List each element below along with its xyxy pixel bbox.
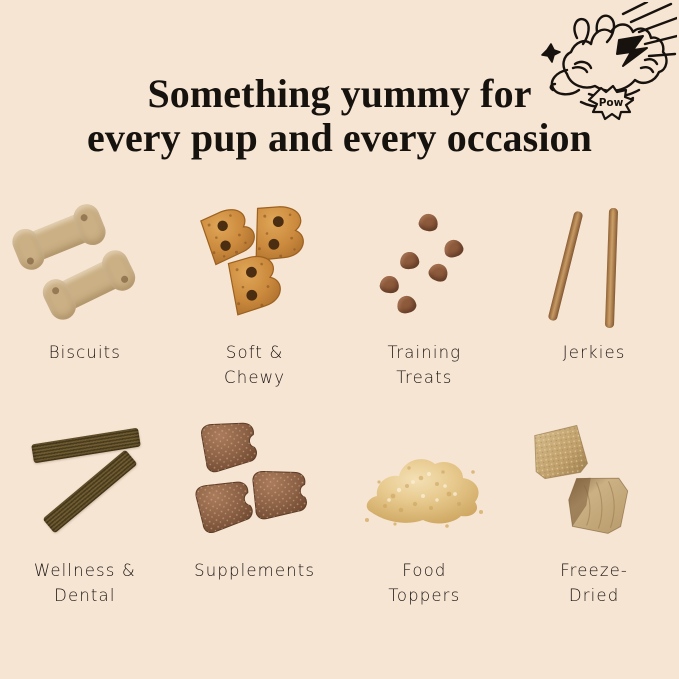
- page-title: Something yummy for every pup and every …: [0, 72, 679, 160]
- dental-chew-sticks-illustration: [10, 416, 160, 556]
- category-cell-training-treats[interactable]: Training Treats: [340, 196, 510, 416]
- headline-line-2: every pup and every occasion: [0, 116, 679, 160]
- category-label-wellness-dental: Wellness & Dental: [34, 558, 136, 608]
- category-label-soft-chewy: Soft & Chewy: [224, 340, 285, 390]
- food-topper-powder-illustration: [349, 416, 499, 556]
- category-cell-wellness-dental[interactable]: Wellness & Dental: [0, 416, 170, 636]
- soft-chewy-letter-b-treats-illustration: [180, 196, 330, 336]
- category-cell-jerkies[interactable]: Jerkies: [509, 196, 679, 416]
- category-row-2: Wellness & Dental: [0, 416, 679, 636]
- promo-banner: Something yummy for every pup and every …: [0, 0, 679, 679]
- category-label-training-treats: Training Treats: [388, 340, 462, 390]
- bone-biscuits-illustration: [10, 196, 160, 336]
- category-label-freeze-dried: Freeze- Dried: [560, 558, 628, 608]
- supplement-chews-illustration: [180, 416, 330, 556]
- jerky-sticks-illustration: [519, 196, 669, 336]
- category-cell-supplements[interactable]: Supplements: [170, 416, 340, 636]
- category-grid: Biscuits: [0, 196, 679, 636]
- category-label-food-toppers: Food Toppers: [388, 558, 460, 608]
- category-label-biscuits: Biscuits: [49, 340, 121, 365]
- headline-line-1: Something yummy for: [0, 72, 679, 116]
- category-label-supplements: Supplements: [194, 558, 315, 583]
- sparkle-star-icon: [542, 44, 560, 62]
- category-row-1: Biscuits: [0, 196, 679, 416]
- category-cell-soft-chewy[interactable]: Soft & Chewy: [170, 196, 340, 416]
- category-cell-biscuits[interactable]: Biscuits: [0, 196, 170, 416]
- category-label-jerkies: Jerkies: [563, 340, 626, 365]
- training-treat-chips-illustration: [349, 196, 499, 336]
- category-cell-food-toppers[interactable]: Food Toppers: [340, 416, 510, 636]
- freeze-dried-chunks-illustration: [519, 416, 669, 556]
- lightning-bolt-icon: [617, 36, 647, 66]
- category-cell-freeze-dried[interactable]: Freeze- Dried: [509, 416, 679, 636]
